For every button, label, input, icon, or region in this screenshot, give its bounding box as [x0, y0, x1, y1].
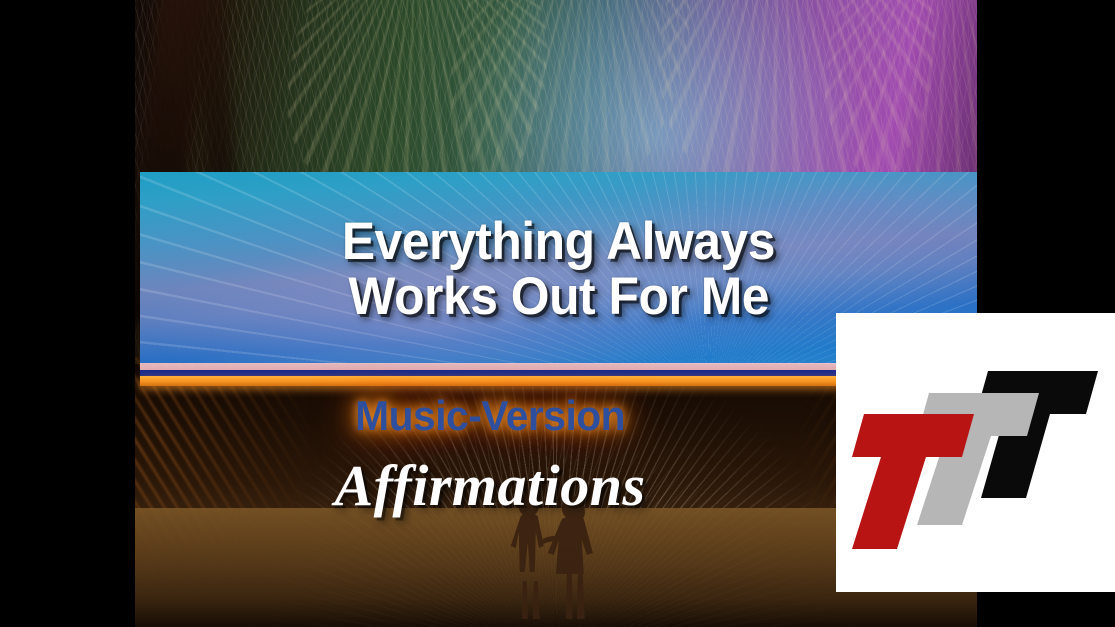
ttt-logo-icon	[836, 313, 1115, 592]
title-line-2: Works Out For Me	[348, 270, 769, 324]
video-thumbnail: Everything Always Works Out For Me Music…	[0, 0, 1115, 627]
title-line-1: Everything Always	[342, 215, 775, 269]
ttt-logo-badge[interactable]	[836, 313, 1115, 592]
music-version-label: Music-Version	[355, 392, 625, 440]
subtitle-group: Music-Version Affirmations	[140, 392, 840, 519]
affirmations-label: Affirmations	[140, 452, 840, 519]
